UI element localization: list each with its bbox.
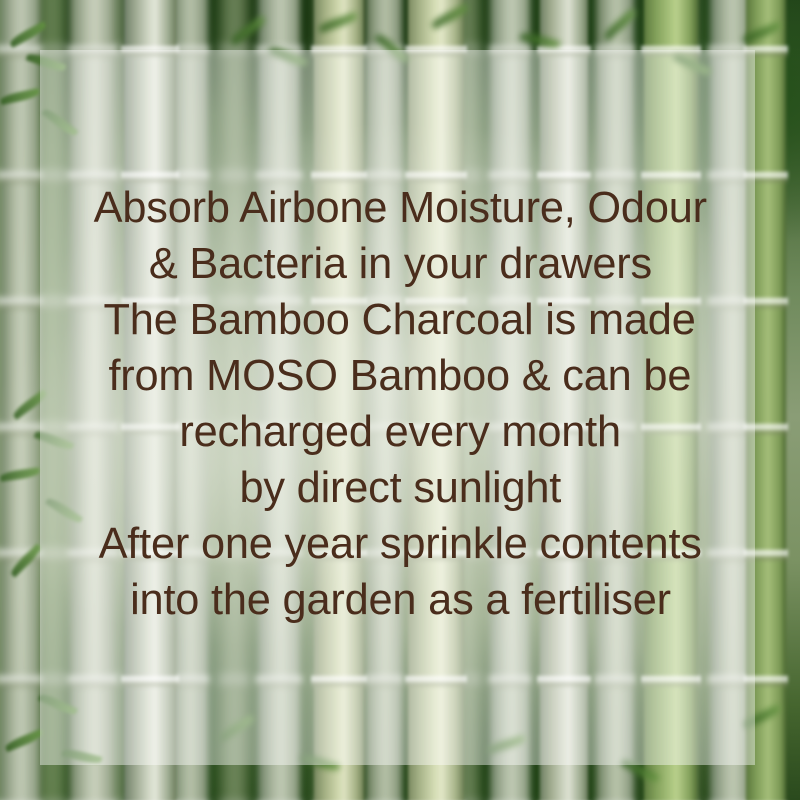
copy-line-6: by direct sunlight	[239, 460, 561, 516]
product-info-graphic: Absorb Airbone Moisture, Odour & Bacteri…	[0, 0, 800, 800]
copy-line-5: recharged every month	[179, 404, 621, 460]
copy-line-1: Absorb Airbone Moisture, Odour	[93, 180, 706, 236]
copy-line-8: into the garden as a fertiliser	[130, 572, 671, 628]
copy-line-3: The Bamboo Charcoal is made	[104, 292, 696, 348]
marketing-copy-block: Absorb Airbone Moisture, Odour & Bacteri…	[0, 0, 800, 800]
copy-line-7: After one year sprinkle contents	[98, 516, 701, 572]
copy-line-2: & Bacteria in your drawers	[148, 236, 651, 292]
copy-line-4: from MOSO Bamboo & can be	[109, 348, 692, 404]
